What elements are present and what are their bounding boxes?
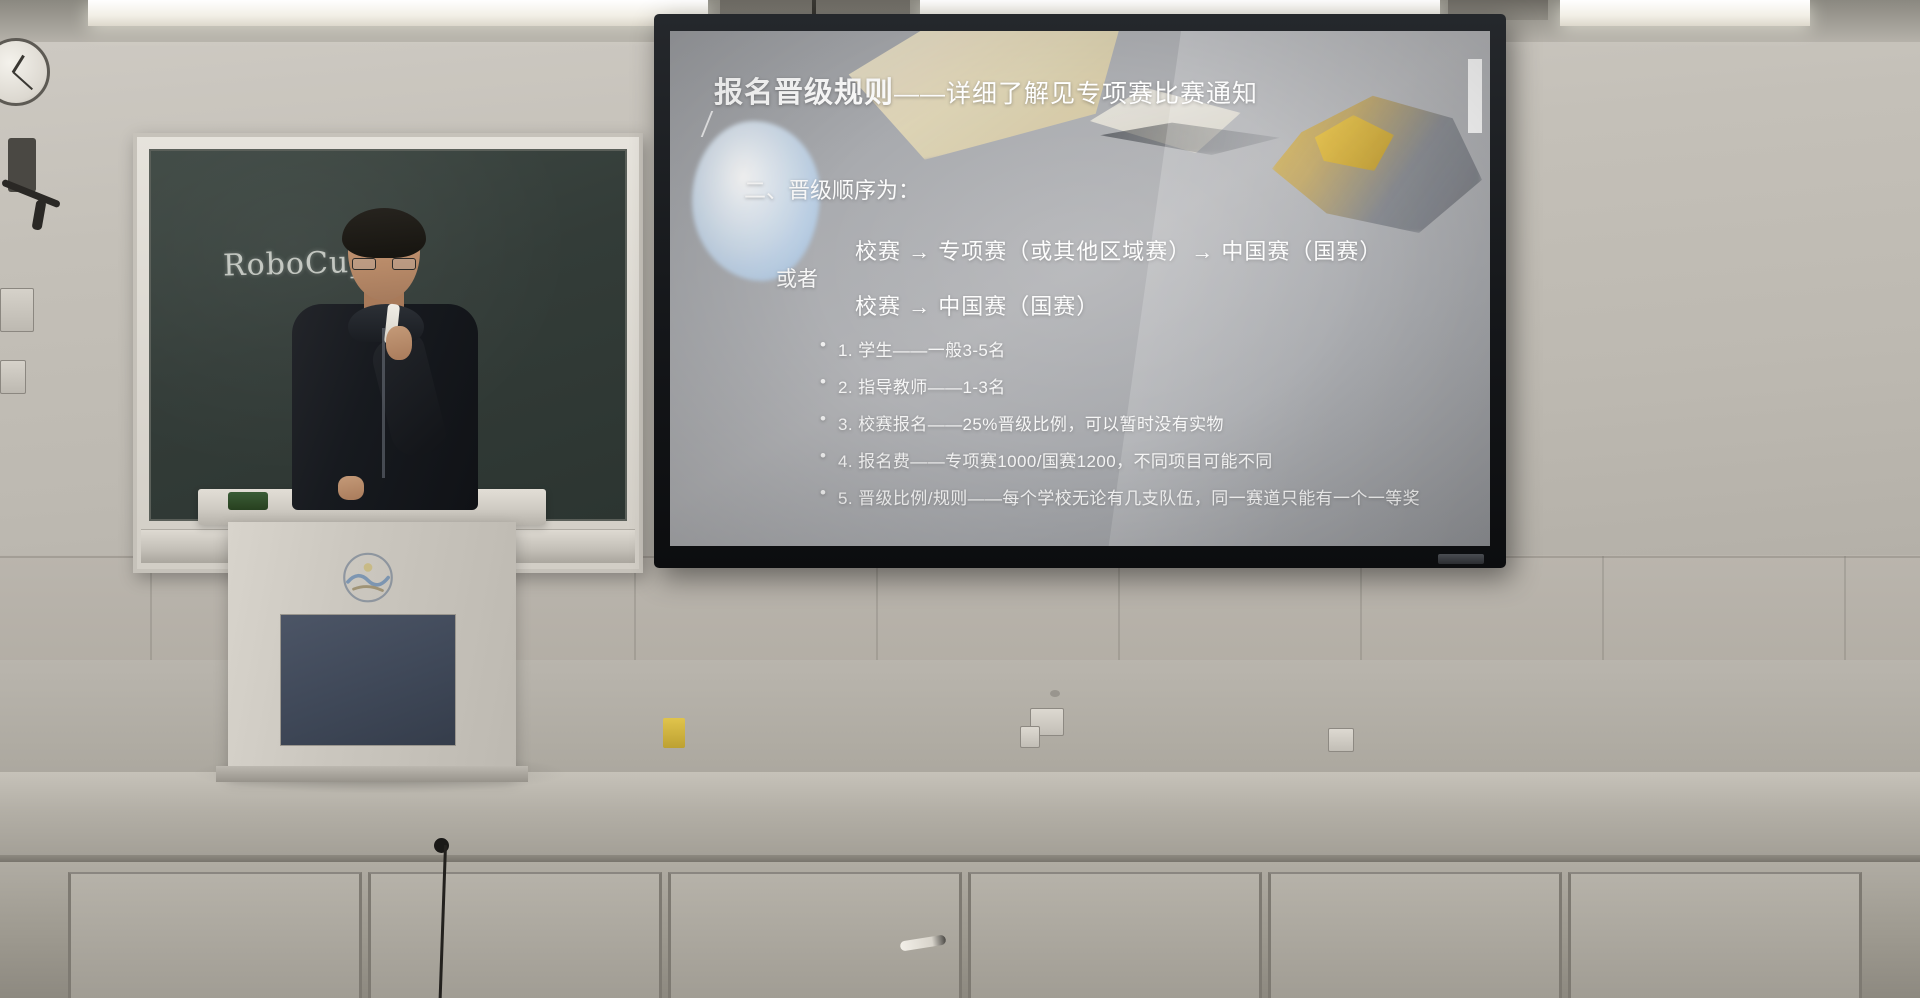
- school-emblem-icon: [332, 550, 404, 608]
- ceiling-light: [88, 0, 708, 26]
- slide-lead-text: 二、晋级顺序为：: [744, 173, 920, 205]
- interactive-display[interactable]: 报名晋级规则——详细了解见专项赛比赛通知 二、晋级顺序为： 校赛 → 专项赛（或…: [654, 14, 1506, 568]
- display-logo-bar: [1438, 554, 1484, 564]
- wall-junction-box: [0, 360, 26, 394]
- stage-front-panel: [368, 872, 662, 998]
- presenter: [286, 208, 486, 508]
- presenter-hand-left: [338, 476, 364, 500]
- stage-front-panel: [668, 872, 962, 998]
- wall-speck: [1050, 690, 1060, 697]
- slide-flow-line-2: 校赛 → 中国赛（国赛）: [855, 289, 1099, 321]
- classroom-scene: RoboCup宣 报名晋级规则——详细了解见专项赛比赛通知 二、晋级顺序为： 校…: [0, 0, 1920, 998]
- stage-front-panel: [1268, 872, 1562, 998]
- presenter-jacket-zipper: [382, 328, 385, 478]
- slide-bullet-list: 1. 学生——一般3-5名 2. 指导教师——1-3名 3. 校赛报名——25%…: [818, 336, 1420, 521]
- glasses-icon: [352, 258, 416, 270]
- slide-bullet-item: 2. 指导教师——1-3名: [818, 373, 1420, 398]
- wall-marker-tag: [663, 718, 685, 748]
- stage-front-panel: [968, 872, 1262, 998]
- slide-or-label: 或者: [776, 263, 818, 293]
- slide-flow-line-1: 校赛 → 专项赛（或其他区域赛）→ 中国赛（国赛）: [855, 234, 1382, 266]
- presenter-hair: [342, 208, 426, 258]
- slide-edge-highlight: [1468, 59, 1482, 133]
- slide-title: 报名晋级规则——详细了解见专项赛比赛通知: [714, 69, 1258, 111]
- wall-socket[interactable]: [1328, 728, 1354, 752]
- lectern-object: [228, 492, 268, 510]
- clock-minute-hand: [12, 71, 33, 90]
- wall-socket[interactable]: [1020, 726, 1040, 748]
- slide-bullet-item: 5. 晋级比例/规则——每个学校无论有几支队伍，同一赛道只能有一个一等奖: [818, 484, 1420, 509]
- stage-front-panel: [1568, 872, 1862, 998]
- stage-front-panel: [68, 872, 362, 998]
- slide-bullet-item: 3. 校赛报名——25%晋级比例，可以暂时没有实物: [818, 410, 1420, 435]
- lectern-base: [216, 766, 528, 782]
- slide-bullet-item: 1. 学生——一般3-5名: [818, 336, 1420, 361]
- ceiling-light: [1560, 0, 1810, 26]
- wall-junction-box: [0, 288, 34, 332]
- glasses-lens-right: [392, 258, 416, 270]
- glasses-lens-left: [352, 258, 376, 270]
- slide-screen[interactable]: 报名晋级规则——详细了解见专项赛比赛通知 二、晋级顺序为： 校赛 → 专项赛（或…: [670, 31, 1490, 546]
- slide-title-main: 报名晋级规则: [714, 77, 894, 109]
- slide-bullet-item: 4. 报名费——专项赛1000/国赛1200，不同项目可能不同: [818, 447, 1420, 472]
- slide-title-sub: ——详细了解见专项赛比赛通知: [894, 80, 1258, 108]
- lectern-body: [228, 522, 516, 774]
- lectern-front-panel: [280, 614, 456, 746]
- presenter-hand-right: [386, 326, 412, 360]
